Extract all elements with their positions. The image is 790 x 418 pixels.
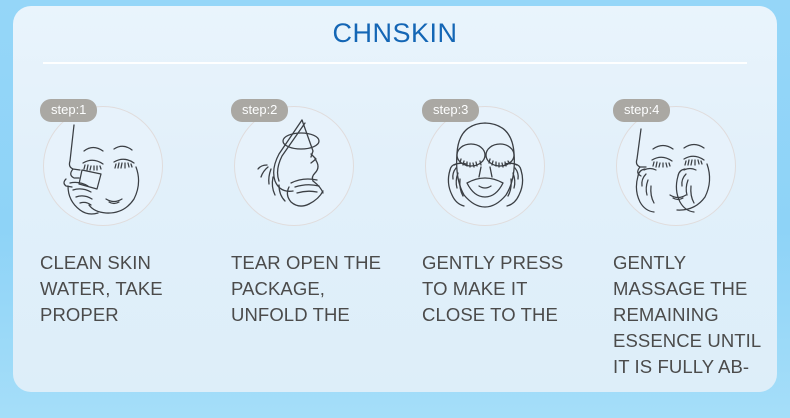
title-divider	[43, 62, 747, 64]
massaging-face-with-hands-icon	[617, 107, 735, 225]
instruction-banner: CHNSKIN	[0, 0, 790, 418]
step-item-4: step:4 GENTLY MASSAGE THE REMAINING ESSE…	[586, 86, 777, 380]
step-badge-1: step:1	[40, 99, 97, 122]
face-cleansing-with-cotton-pad-icon	[44, 107, 162, 225]
illustration-circle-4	[616, 106, 736, 226]
step-item-1: step:1 CLEAN SKIN WATER, TAKE PROPER	[13, 86, 204, 380]
pressing-sheet-mask-onto-face-icon	[426, 107, 544, 225]
brand-title: CHNSKIN	[332, 16, 457, 50]
step-caption-1: CLEAN SKIN WATER, TAKE PROPER	[40, 250, 208, 328]
step-item-3: step:3 GENTLY PRESS TO MAKE IT CLOSE TO …	[395, 86, 586, 380]
step-caption-2: TEAR OPEN THE PACKAGE, UNFOLD THE	[231, 250, 399, 328]
illustration-wrap-2: step:2	[231, 86, 371, 236]
tearing-open-mask-package-icon	[235, 107, 353, 225]
step-item-2: step:2 TEAR OPEN THE PACKAGE, UNFOLD THE	[204, 86, 395, 380]
steps-row: step:1 CLEAN SKIN WATER, TAKE PROPER	[13, 86, 777, 380]
step-caption-3: GENTLY PRESS TO MAKE IT CLOSE TO THE	[422, 250, 590, 328]
step-badge-4: step:4	[613, 99, 670, 122]
illustration-wrap-4: step:4	[613, 86, 753, 236]
title-container: CHNSKIN	[13, 16, 777, 50]
illustration-wrap-1: step:1	[40, 86, 180, 236]
illustration-wrap-3: step:3	[422, 86, 562, 236]
step-caption-4: GENTLY MASSAGE THE REMAINING ESSENCE UNT…	[613, 250, 777, 380]
content-panel: CHNSKIN	[13, 6, 777, 392]
illustration-circle-3	[425, 106, 545, 226]
illustration-circle-2	[234, 106, 354, 226]
step-badge-2: step:2	[231, 99, 288, 122]
illustration-circle-1	[43, 106, 163, 226]
step-badge-3: step:3	[422, 99, 479, 122]
